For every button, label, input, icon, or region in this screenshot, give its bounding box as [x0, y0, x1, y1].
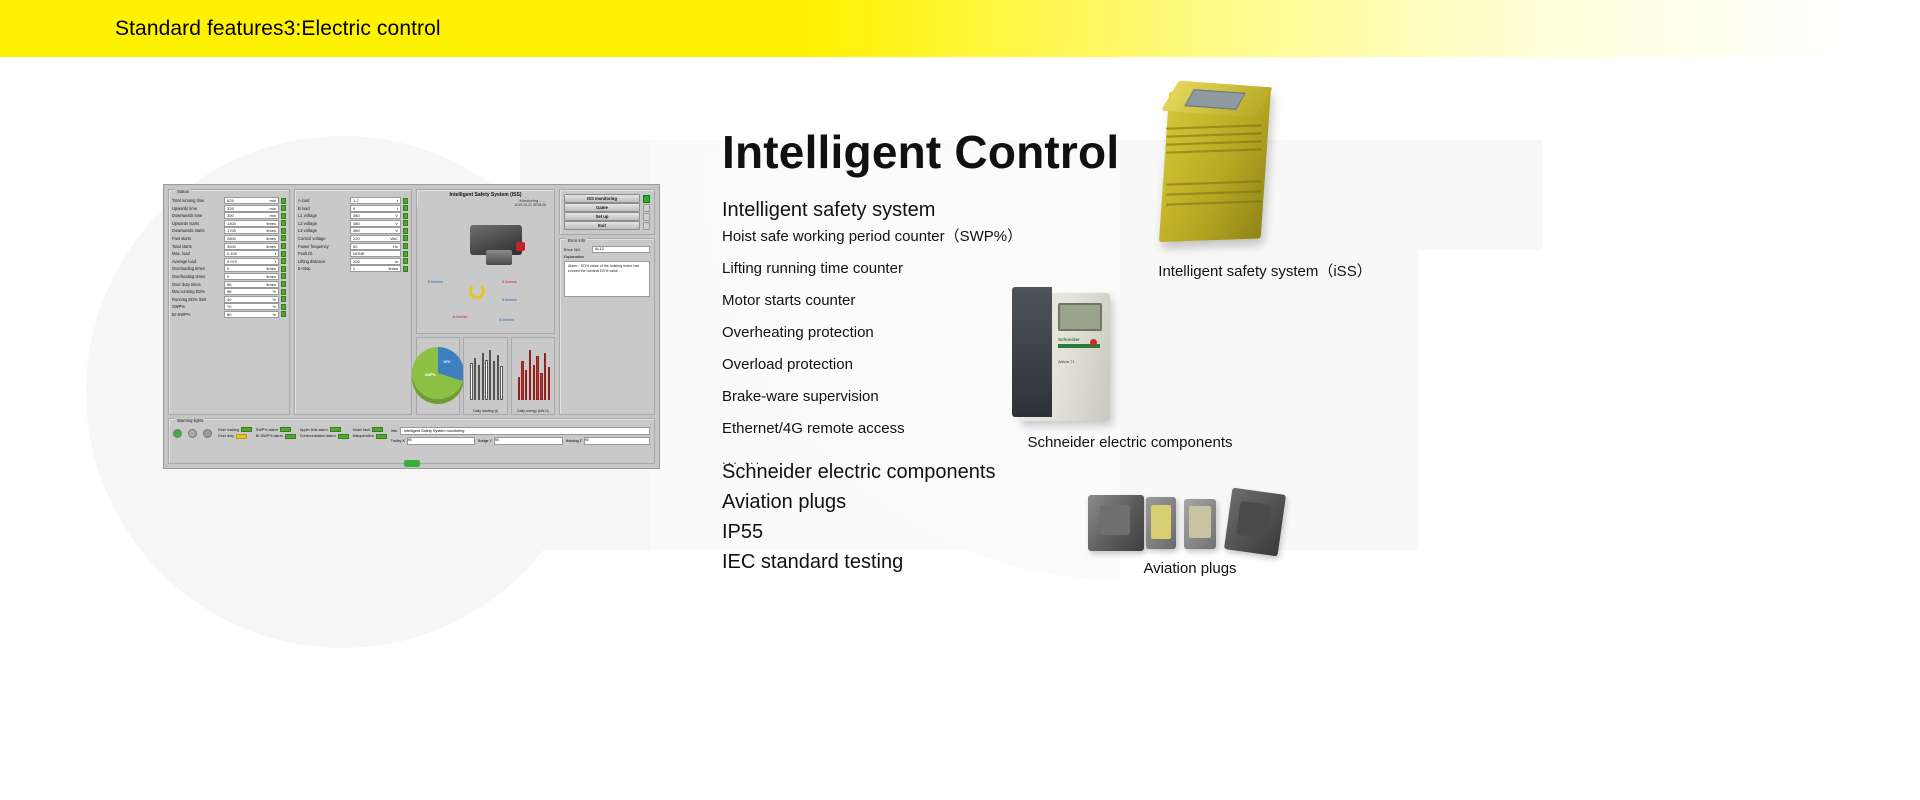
status-left-led-icon — [281, 205, 286, 211]
chart-bar — [521, 361, 523, 400]
lamp-gray1-icon — [188, 429, 197, 438]
status-right-led-icon — [403, 198, 408, 204]
status-left-value: 56 — [227, 282, 231, 287]
chart-bar — [544, 353, 546, 400]
hmi-screenshot: Status Total running time625minUpwards t… — [163, 184, 660, 469]
status-left-field[interactable]: 0times — [224, 265, 279, 272]
speed-tag-2: 8.0m/min — [502, 298, 517, 302]
status-left-field[interactable]: 325min — [224, 205, 279, 212]
bar-series-loading — [470, 350, 502, 400]
status-right-unit: V — [395, 228, 398, 233]
status-right-led-icon — [403, 205, 408, 211]
hoisting-field[interactable]: Hoisting Z 90 — [566, 437, 650, 445]
status-right-field[interactable]: 2times — [350, 265, 401, 272]
status-left-label: Average load — [172, 259, 222, 264]
status-right-value: 0 — [353, 206, 355, 211]
warning-column-1: Over loadingOver duty — [218, 427, 252, 445]
hmi-right-column: ISS monitoringGameSet upExit Error info … — [559, 189, 655, 415]
hmi-hoist-diagram: 8.0m/min 8.0m/min 8.0m/min 8.0m/min 6.0m… — [417, 207, 554, 333]
plug-shape-1 — [1088, 495, 1144, 551]
status-left-unit: min — [270, 198, 276, 203]
status-left-value: 40 — [227, 297, 231, 302]
status-right-row: A load1.2t — [298, 197, 408, 204]
status-left-unit: times — [266, 274, 276, 279]
feature-item-0: Hoist safe working period counter（SWP%） — [722, 229, 1022, 244]
status-left-led-icon — [281, 251, 286, 257]
warning-label: Br-SWP% alarm — [256, 434, 283, 438]
status-left-field[interactable]: 58% — [224, 288, 279, 295]
status-left-label: Max.running ED% — [172, 289, 222, 294]
status-right-field[interactable]: 0t — [350, 205, 401, 212]
status-left-unit: % — [272, 312, 276, 317]
status-left-value: 0.100 — [227, 251, 237, 256]
feature-item-3: Overheating protection — [722, 325, 1022, 340]
trolley-field[interactable]: Trolley X 90 — [391, 437, 475, 445]
status-left-field[interactable]: 80% — [224, 311, 279, 318]
status-left-label: Max. load — [172, 251, 222, 256]
hmi-button-row: Game — [564, 203, 650, 212]
status-right-value: 206 — [353, 259, 360, 264]
status-right-led-icon — [403, 266, 408, 272]
speed-tag-3: 8.0m/min — [453, 315, 468, 319]
warning-led-icon — [376, 434, 387, 439]
bridge-value: 90 — [494, 437, 563, 445]
warning-column-2: SWP% alarmBr-SWP% alarm — [256, 427, 296, 445]
chart-bar — [525, 370, 527, 400]
status-left-row: Over duty times56times — [172, 281, 286, 288]
status-right-led-icon — [403, 228, 408, 234]
warning-lamps — [173, 425, 212, 438]
status-right-unit: VAC — [390, 236, 398, 241]
warning-led-icon — [338, 434, 349, 439]
status-left-led-icon — [281, 281, 286, 287]
status-left-led-icon — [281, 243, 286, 249]
pie-shape — [412, 347, 464, 399]
status-right-row: L2 voltage380V — [298, 220, 408, 227]
status-right-unit: times — [388, 266, 398, 271]
status-left-row: Overheating times0times — [172, 273, 286, 280]
status-right-field[interactable]: 380V — [350, 227, 401, 234]
status-right-unit: Hz — [393, 244, 398, 249]
status-right-row: E-Stop2times — [298, 265, 408, 272]
bridge-label: Bridge Y — [478, 439, 492, 443]
warning-item: Br-SWP% alarm — [256, 434, 296, 439]
hmi-status-panel-right: A load1.2tB load0tL1 voltage380VL2 volta… — [294, 189, 412, 415]
status-left-field[interactable]: 1700times — [224, 227, 279, 234]
warning-item: SWP% alarm — [256, 427, 296, 432]
status-right-field[interactable]: NONE — [350, 250, 401, 257]
status-right-row: L3 voltage380V — [298, 227, 408, 234]
status-right-value: 220 — [353, 236, 360, 241]
error-explanation-text: Alarm：ED% value of the hoisting motor ha… — [564, 261, 650, 297]
status-left-led-icon — [281, 266, 286, 272]
status-left-row: Overloading times0times — [172, 265, 286, 272]
chart-bar — [482, 353, 484, 400]
chart-bar — [497, 355, 499, 400]
chart-bar — [500, 366, 502, 400]
status-right-label: Lifting distance — [298, 259, 348, 264]
iss-display-shape — [1184, 89, 1245, 110]
schneider-vfd-image: Schneider Altivar 71 — [1012, 283, 1120, 425]
hmi-status-panel-left: Status Total running time625minUpwards t… — [168, 189, 290, 415]
status-right-unit: m — [395, 259, 398, 264]
status-left-led-icon — [281, 213, 286, 219]
plug-shape-3 — [1184, 499, 1216, 549]
warning-column-4: Motor faultMisoperation — [353, 427, 387, 445]
feature-item-4: Overload protection — [722, 357, 1022, 372]
vfd-model-text: Altivar 71 — [1058, 359, 1075, 364]
bottom-item-2: IP55 — [722, 517, 995, 547]
status-right-label: L3 voltage — [298, 228, 348, 233]
hmi-button[interactable]: Set up — [564, 212, 640, 221]
status-right-led-icon — [403, 213, 408, 219]
status-right-led-icon — [403, 251, 408, 257]
status-right-label: L2 voltage — [298, 221, 348, 226]
hoist-drum-shape — [486, 250, 512, 265]
hmi-scroll-tab[interactable] — [404, 460, 420, 467]
warning-label: Over duty — [218, 434, 234, 438]
status-right-label: Control voltage — [298, 236, 348, 241]
bottom-item-1: Aviation plugs — [722, 487, 995, 517]
status-right-field[interactable]: 380V — [350, 212, 401, 219]
warning-led-icon — [372, 427, 383, 432]
status-left-label: Fast starts — [172, 236, 222, 241]
chart-bar — [548, 367, 550, 400]
status-left-unit: t — [275, 259, 276, 264]
bottom-item-3: IEC standard testing — [722, 547, 995, 577]
plug-shape-2 — [1146, 497, 1176, 549]
warning-item: Upper limit alarm — [300, 427, 349, 432]
status-left-label: Total starts — [172, 244, 222, 249]
status-left-row: Max. load0.100t — [172, 250, 286, 257]
lamp-green-icon — [173, 429, 182, 438]
warning-label: Motor fault — [353, 428, 370, 432]
status-right-value: 380 — [353, 221, 360, 226]
warning-led-icon — [236, 434, 247, 439]
status-right-field[interactable]: 380V — [350, 220, 401, 227]
status-left-led-icon — [281, 235, 286, 241]
status-left-row: Downwards starts1700times — [172, 227, 286, 234]
status-left-label: Total running time — [172, 198, 222, 203]
chart-bar — [529, 350, 531, 400]
status-left-label: Upwards starts — [172, 221, 222, 226]
warning-item: Communication alarm — [300, 434, 349, 439]
hook-icon — [469, 283, 485, 299]
status-left-field[interactable]: 1300times — [224, 220, 279, 227]
iss-caption: Intelligent safety system（iSS） — [1100, 260, 1430, 281]
feature-item-1: Lifting running time counter — [722, 261, 1022, 276]
hmi-button-row: ISS monitoring — [564, 194, 650, 203]
status-left-label: Over duty times — [172, 282, 222, 287]
status-left-value: 2800 — [227, 236, 236, 241]
trolley-label: Trolley X — [391, 439, 405, 443]
status-left-label: Br-SWP% — [172, 312, 222, 317]
plug-shape-4 — [1224, 488, 1286, 557]
status-right-led-icon — [403, 220, 408, 226]
vfd-heatsink-shape — [1012, 287, 1052, 417]
status-left-field[interactable]: 40% — [224, 296, 279, 303]
warning-item: Over loading — [218, 427, 252, 432]
status-left-row: Downwards time300min — [172, 212, 286, 219]
page-title: Standard features3:Electric control — [115, 17, 441, 41]
status-left-led-icon — [281, 289, 286, 295]
status-right-row: Fault ID.NONE — [298, 250, 408, 257]
vfd-brand-text: Schneider — [1058, 337, 1080, 342]
status-left-row: SWP%70% — [172, 303, 286, 310]
status-left-field[interactable]: 2800times — [224, 235, 279, 242]
status-left-unit: % — [272, 304, 276, 309]
hmi-button[interactable]: ISS monitoring — [564, 194, 640, 203]
hmi-button-row: Set up — [564, 212, 650, 221]
chart-caption-energy: Daily energy (kW-h) — [512, 409, 554, 413]
hmi-warning-panel: Warning lights Over loadingOver duty SWP… — [168, 418, 655, 464]
bottom-item-0: Schneider electric components — [722, 457, 995, 487]
status-right-label: A load — [298, 198, 348, 203]
status-left-value: 3000 — [227, 244, 236, 249]
warning-item: Motor fault — [353, 427, 387, 432]
status-right-row: B load0t — [298, 205, 408, 212]
status-right-unit: t — [397, 206, 398, 211]
status-left-field[interactable]: 625min — [224, 197, 279, 204]
hmi-title: Intelligent Safety System (ISS) — [417, 190, 554, 198]
vfd-knob-icon — [1090, 339, 1097, 346]
status-left-unit: times — [266, 236, 276, 241]
chart-bar — [536, 356, 538, 400]
speed-tag-0: 8.0m/min — [428, 280, 443, 284]
bottom-spec-list: Schneider electric componentsAviation pl… — [722, 457, 995, 577]
status-left-row: Upwards starts1300times — [172, 220, 286, 227]
warning-label: Upper limit alarm — [300, 428, 328, 432]
status-left-row: Average load0.072t — [172, 258, 286, 265]
status-right-field[interactable]: 1.2t — [350, 197, 401, 204]
hmi-info-box: Info. Intelligent Safety System monitori… — [391, 427, 650, 445]
status-left-unit: % — [272, 289, 276, 294]
hmi-button[interactable]: Exit — [564, 221, 640, 230]
status-right-led-icon — [403, 258, 408, 264]
status-right-label: B load — [298, 206, 348, 211]
status-right-unit: V — [395, 221, 398, 226]
status-left-value: 1300 — [227, 221, 236, 226]
status-right-row: Lifting distance206m — [298, 258, 408, 265]
status-right-value: 1.2 — [353, 198, 359, 203]
status-left-unit: times — [266, 282, 276, 287]
status-left-row: Max.running ED%58% — [172, 288, 286, 295]
info-label: Info. — [391, 429, 398, 433]
schneider-caption: Schneider electric components — [965, 434, 1295, 451]
bridge-field[interactable]: Bridge Y 90 — [478, 437, 562, 445]
status-left-field[interactable]: 0.100t — [224, 250, 279, 257]
lamp-gray2-icon — [203, 429, 212, 438]
chart-bar — [474, 358, 476, 400]
status-left-led-icon — [281, 220, 286, 226]
vfd-screen-shape — [1058, 303, 1102, 331]
status-left-led-icon — [281, 198, 286, 204]
hmi-button-row: Exit — [564, 221, 650, 230]
status-left-value: 0.072 — [227, 259, 237, 264]
status-left-label: Overloading times — [172, 266, 222, 271]
decorative-rect-d — [1418, 140, 1542, 250]
bar-series-energy — [518, 350, 550, 400]
hmi-bar-chart-loading: Daily loading (t) — [463, 337, 507, 415]
status-right-value: NONE — [353, 251, 365, 256]
status-left-value: 70 — [227, 304, 231, 309]
status-left-unit: times — [266, 228, 276, 233]
main-heading: Intelligent Control — [722, 125, 1119, 179]
hmi-charts-row: SWP% 10% Daily loading (t) Daily energy … — [416, 337, 555, 415]
status-left-led-icon — [281, 258, 286, 264]
chart-bar — [478, 365, 480, 400]
trolley-value: 90 — [407, 437, 475, 445]
speed-tag-4: 6.0m/min — [499, 318, 514, 322]
status-right-label: L1 voltage — [298, 213, 348, 218]
warning-item: Misoperation — [353, 434, 387, 439]
hmi-bar-chart-energy: Daily energy (kW-h) — [511, 337, 555, 415]
status-right-field[interactable]: 220VAC — [350, 235, 401, 242]
status-left-unit: % — [272, 297, 276, 302]
chart-bar — [493, 361, 495, 400]
status-right-led-icon — [403, 243, 408, 249]
status-left-value: 300 — [227, 213, 234, 218]
warning-legend: Warning lights — [175, 418, 205, 423]
status-left-label: SWP% — [172, 304, 222, 309]
warning-column-3: Upper limit alarmCommunication alarm — [300, 427, 349, 445]
status-legend: Status — [175, 189, 191, 194]
status-left-row: Fast starts2800times — [172, 235, 286, 242]
status-right-row: L1 voltage380V — [298, 212, 408, 219]
status-left-label: Upwards time — [172, 206, 222, 211]
speed-tag-1: 8.0m/min — [502, 280, 517, 284]
error-no-label: Error NO. — [564, 247, 590, 252]
status-right-led-icon — [403, 235, 408, 241]
chart-bar — [489, 350, 491, 400]
status-left-field[interactable]: 300min — [224, 212, 279, 219]
status-right-value: 50 — [353, 244, 357, 249]
warning-led-icon — [280, 427, 291, 432]
status-right-value: 380 — [353, 213, 360, 218]
feature-item-2: Motor starts counter — [722, 293, 1022, 308]
status-left-led-icon — [281, 311, 286, 317]
status-left-label: Downwards time — [172, 213, 222, 218]
hmi-error-panel: Error info Error NO. AL12 Explanation Al… — [559, 238, 655, 415]
error-no-value[interactable]: AL12 — [592, 246, 650, 253]
status-left-led-icon — [281, 228, 286, 234]
status-right-value: 2 — [353, 266, 355, 271]
hmi-center-column: Intelligent Safety System (ISS) Monitori… — [416, 189, 555, 415]
feature-item-5: Brake-ware supervision — [722, 389, 1022, 404]
chart-bar — [518, 377, 520, 400]
hmi-button-stack: ISS monitoringGameSet upExit — [559, 189, 655, 235]
pie-label-other: 10% — [443, 361, 450, 365]
hoisting-value: 90 — [584, 437, 650, 445]
status-left-value: 1700 — [227, 228, 236, 233]
warning-led-icon — [330, 427, 341, 432]
error-legend: Error info — [566, 238, 587, 243]
status-right-unit: t — [397, 198, 398, 203]
chart-bar — [485, 360, 487, 400]
status-left-label: Downwards starts — [172, 228, 222, 233]
status-left-value: 58 — [227, 289, 231, 294]
status-left-field[interactable]: 0.072t — [224, 258, 279, 265]
warning-label: Over loading — [218, 428, 239, 432]
warning-led-icon — [241, 427, 252, 432]
hoist-indicator-shape — [516, 242, 525, 251]
aviation-plugs-image — [1088, 487, 1293, 559]
status-left-row: Total starts3000times — [172, 243, 286, 250]
status-left-unit: t — [275, 251, 276, 256]
status-left-field[interactable]: 3000times — [224, 243, 279, 250]
status-left-label: Running ED% limit — [172, 297, 222, 302]
hmi-visual-panel: Intelligent Safety System (ISS) Monitori… — [416, 189, 555, 334]
status-right-row: Power frequency50Hz — [298, 243, 408, 250]
hmi-button-led-icon — [643, 195, 650, 203]
info-value: Intelligent Safety System monitoring — [400, 427, 650, 435]
status-left-unit: times — [266, 266, 276, 271]
subheading: Intelligent safety system — [722, 199, 935, 222]
warning-label: Communication alarm — [300, 434, 336, 438]
status-left-value: 0 — [227, 274, 229, 279]
iss-product-image — [1150, 82, 1280, 254]
status-left-label: Overheating times — [172, 274, 222, 279]
hmi-button[interactable]: Game — [564, 203, 640, 212]
status-left-row: Running ED% limit40% — [172, 296, 286, 303]
hmi-button-led-icon — [643, 204, 650, 212]
status-right-field[interactable]: 206m — [350, 258, 401, 265]
warning-led-icon — [285, 434, 296, 439]
status-left-unit: times — [266, 244, 276, 249]
hmi-pie-chart: SWP% 10% — [416, 337, 460, 415]
warning-item: Over duty — [218, 434, 252, 439]
status-left-led-icon — [281, 304, 286, 310]
hmi-button-led-icon — [643, 222, 650, 230]
status-right-unit: V — [395, 213, 398, 218]
status-left-value: 625 — [227, 198, 234, 203]
status-left-led-icon — [281, 273, 286, 279]
chart-bar — [540, 373, 542, 400]
hmi-button-led-icon — [643, 213, 650, 221]
status-left-row: Upwards time325min — [172, 205, 286, 212]
status-left-unit: times — [266, 221, 276, 226]
aviation-plugs-caption: Aviation plugs — [1025, 560, 1355, 577]
status-left-field[interactable]: 56times — [224, 281, 279, 288]
status-right-label: E-Stop — [298, 266, 348, 271]
status-left-field[interactable]: 70% — [224, 303, 279, 310]
status-left-led-icon — [281, 296, 286, 302]
status-left-value: 0 — [227, 266, 229, 271]
warning-label: SWP% alarm — [256, 428, 278, 432]
status-left-field[interactable]: 0times — [224, 273, 279, 280]
pie-label-swp: SWP% — [425, 374, 436, 378]
status-right-value: 380 — [353, 228, 360, 233]
status-left-row: Br-SWP%80% — [172, 311, 286, 318]
warning-label: Misoperation — [353, 434, 374, 438]
error-explanation-label: Explanation — [564, 255, 650, 259]
hoisting-label: Hoisting Z — [566, 439, 582, 443]
status-left-unit: min — [270, 213, 276, 218]
chart-caption-loading: Daily loading (t) — [464, 409, 506, 413]
status-left-row: Total running time625min — [172, 197, 286, 204]
status-left-unit: min — [270, 206, 276, 211]
status-left-value: 325 — [227, 206, 234, 211]
status-right-label: Power frequency — [298, 244, 348, 249]
chart-bar — [470, 363, 472, 400]
status-right-field[interactable]: 50Hz — [350, 243, 401, 250]
chart-bar — [533, 365, 535, 400]
status-right-row: Control voltage220VAC — [298, 235, 408, 242]
status-left-value: 80 — [227, 312, 231, 317]
status-right-label: Fault ID. — [298, 251, 348, 256]
